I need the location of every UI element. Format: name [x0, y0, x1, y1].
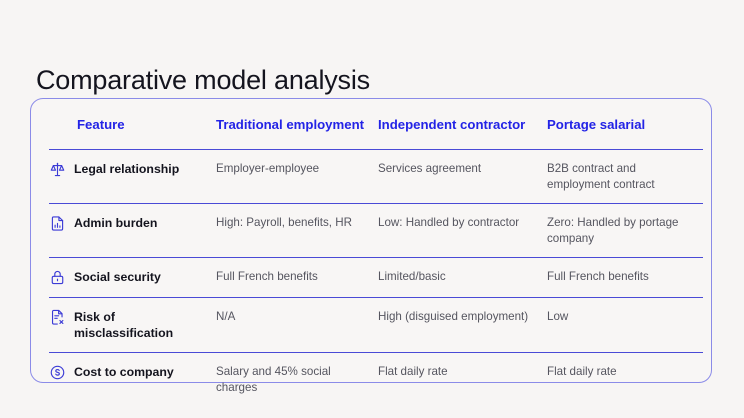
feature-label: Social security: [74, 269, 161, 286]
cell-text: Limited/basic: [378, 269, 535, 285]
cell-traditional: N/A: [216, 298, 378, 353]
feature-label: Legal relationship: [74, 161, 179, 178]
cell-portage: Full French benefits: [547, 258, 703, 298]
table-header-row: Feature Traditional employment Independe…: [49, 99, 703, 150]
row-feature-admin-burden: Admin burden: [49, 204, 216, 258]
column-header-portage-salarial: Portage salarial: [547, 99, 703, 150]
cell-text: Salary and 45% social charges: [216, 364, 366, 395]
cell-portage: Zero: Handled by portage company: [547, 204, 703, 258]
cell-text: Flat daily rate: [547, 364, 691, 380]
table-body: Legal relationship Employer-employee Ser…: [49, 150, 703, 407]
table-row: Risk of misclassification N/A High (disg…: [49, 298, 703, 353]
cell-portage: Flat daily rate: [547, 353, 703, 407]
cell-independent: Services agreement: [378, 150, 547, 204]
feature-label: Risk of misclassification: [74, 309, 204, 341]
cell-text: Low: [547, 309, 691, 325]
row-feature-legal-relationship: Legal relationship: [49, 150, 216, 204]
cell-traditional: High: Payroll, benefits, HR: [216, 204, 378, 258]
document-chart-icon: [49, 215, 66, 232]
table-row: Admin burden High: Payroll, benefits, HR…: [49, 204, 703, 258]
table-header: Feature Traditional employment Independe…: [49, 99, 703, 150]
comparison-table: Feature Traditional employment Independe…: [49, 99, 703, 406]
cell-portage: Low: [547, 298, 703, 353]
slide-canvas: Comparative model analysis Feature Tradi…: [0, 0, 744, 418]
cell-text: N/A: [216, 309, 366, 325]
row-feature-social-security: Social security: [49, 258, 216, 298]
document-error-icon: [49, 309, 66, 326]
currency-circle-icon: [49, 364, 66, 381]
cell-text: Full French benefits: [547, 269, 691, 285]
balance-scale-icon: [49, 161, 66, 178]
cell-text: High (disguised employment): [378, 309, 535, 325]
table-row: Cost to company Salary and 45% social ch…: [49, 353, 703, 407]
cell-independent: Limited/basic: [378, 258, 547, 298]
table-row: Legal relationship Employer-employee Ser…: [49, 150, 703, 204]
cell-text: B2B contract and employment contract: [547, 161, 691, 192]
cell-text: Full French benefits: [216, 269, 366, 285]
cell-traditional: Full French benefits: [216, 258, 378, 298]
cell-text: Flat daily rate: [378, 364, 535, 380]
page-title: Comparative model analysis: [36, 63, 370, 97]
feature-label: Admin burden: [74, 215, 157, 232]
comparison-card: Feature Traditional employment Independe…: [30, 98, 712, 383]
cell-text: Services agreement: [378, 161, 535, 177]
table-row: Social security Full French benefits Lim…: [49, 258, 703, 298]
column-header-traditional-employment: Traditional employment: [216, 99, 378, 150]
cell-text: Zero: Handled by portage company: [547, 215, 691, 246]
feature-label: Cost to company: [74, 364, 174, 381]
cell-traditional: Salary and 45% social charges: [216, 353, 378, 407]
cell-text: Employer-employee: [216, 161, 366, 177]
row-feature-cost-to-company: Cost to company: [49, 353, 216, 407]
row-feature-risk-of-misclassification: Risk of misclassification: [49, 298, 216, 353]
column-header-feature: Feature: [49, 99, 216, 150]
cell-independent: Low: Handled by contractor: [378, 204, 547, 258]
column-header-independent-contractor: Independent contractor: [378, 99, 547, 150]
lock-icon: [49, 269, 66, 286]
cell-independent: Flat daily rate: [378, 353, 547, 407]
cell-text: Low: Handled by contractor: [378, 215, 535, 231]
cell-independent: High (disguised employment): [378, 298, 547, 353]
cell-traditional: Employer-employee: [216, 150, 378, 204]
cell-text: High: Payroll, benefits, HR: [216, 215, 366, 231]
cell-portage: B2B contract and employment contract: [547, 150, 703, 204]
